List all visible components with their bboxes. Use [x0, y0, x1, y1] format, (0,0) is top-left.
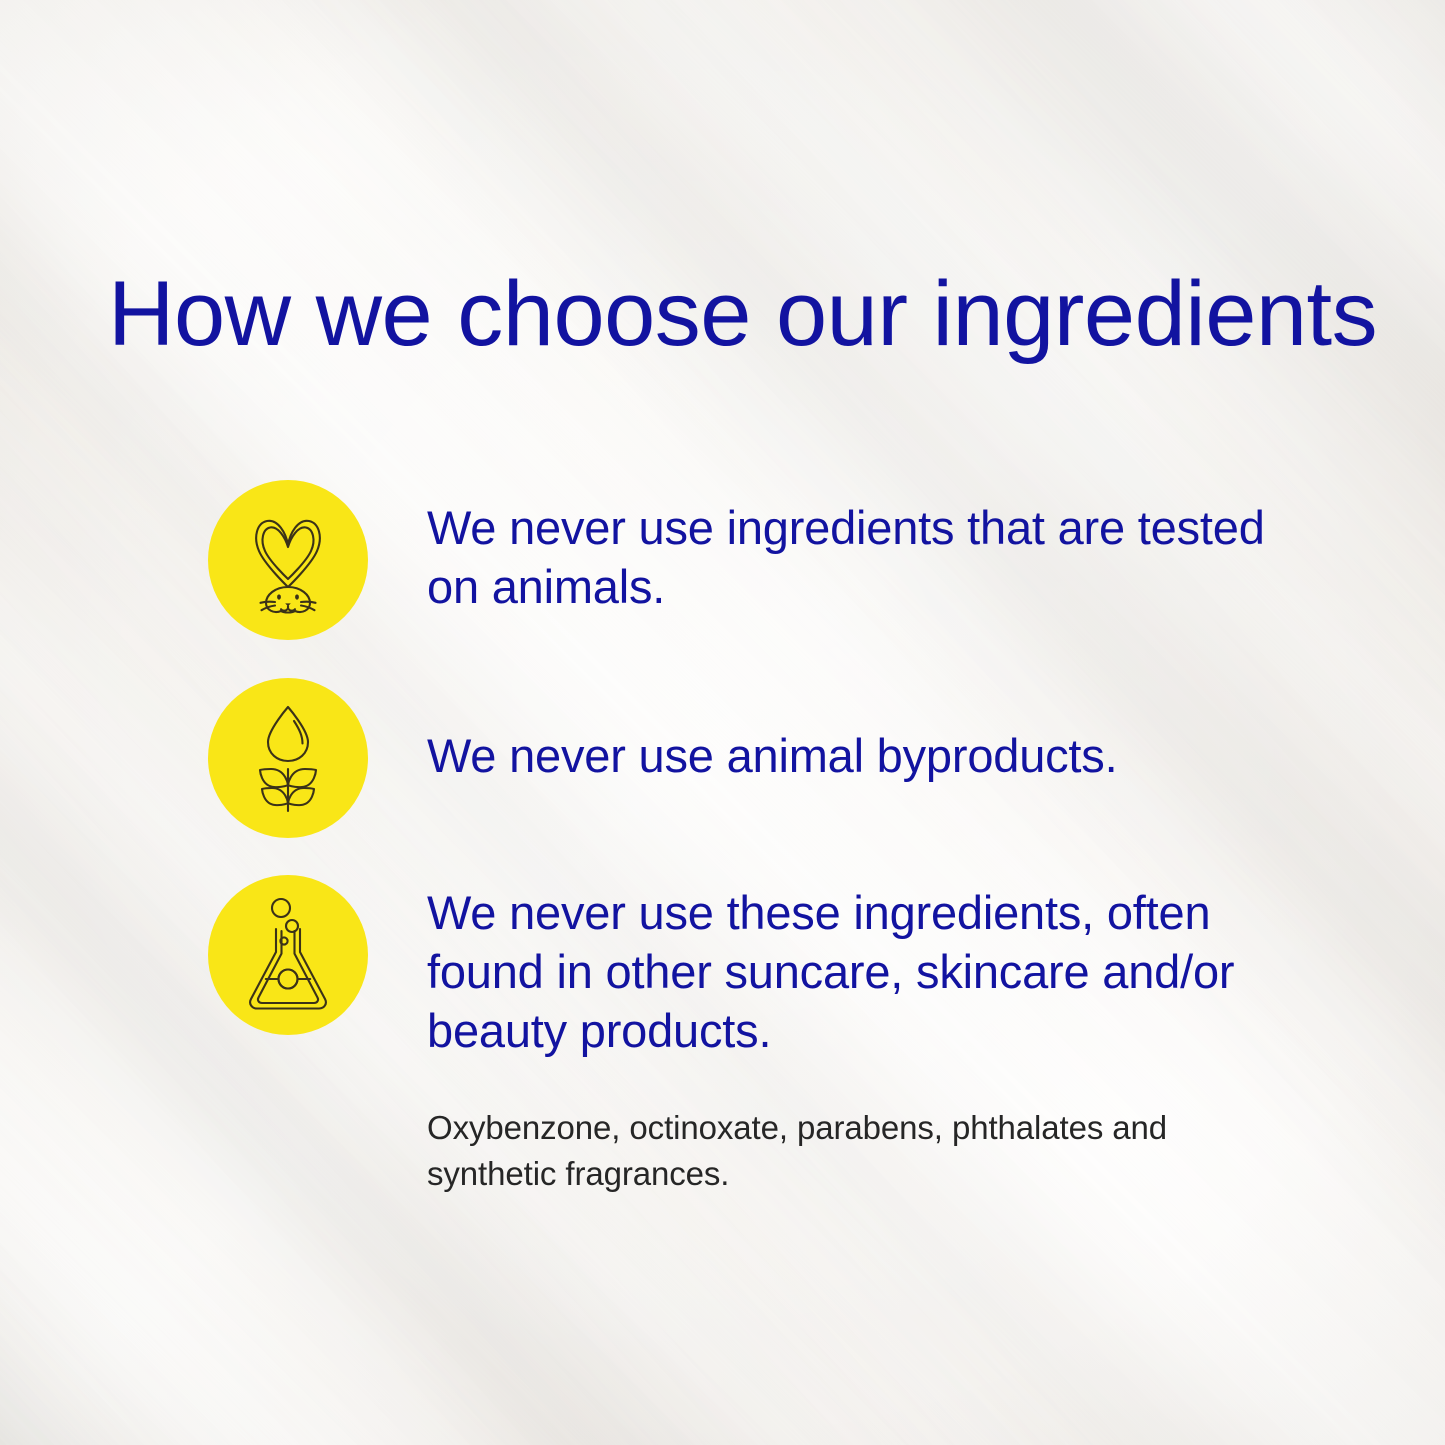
cruelty-free-bunny-icon: [208, 480, 368, 640]
benefit-text: We never use ingredients that are tested…: [427, 498, 1307, 616]
chemistry-flask-icon: [208, 875, 368, 1035]
page-title: How we choose our ingredients: [108, 268, 1377, 360]
plant-droplet-icon: [208, 678, 368, 838]
benefit-text: We never use animal byproducts.: [427, 726, 1307, 785]
benefit-text: We never use these ingredients, often fo…: [427, 883, 1307, 1061]
content-root: How we choose our ingredients: [0, 0, 1445, 1445]
excluded-ingredients-note: Oxybenzone, octinoxate, parabens, phthal…: [427, 1105, 1227, 1196]
